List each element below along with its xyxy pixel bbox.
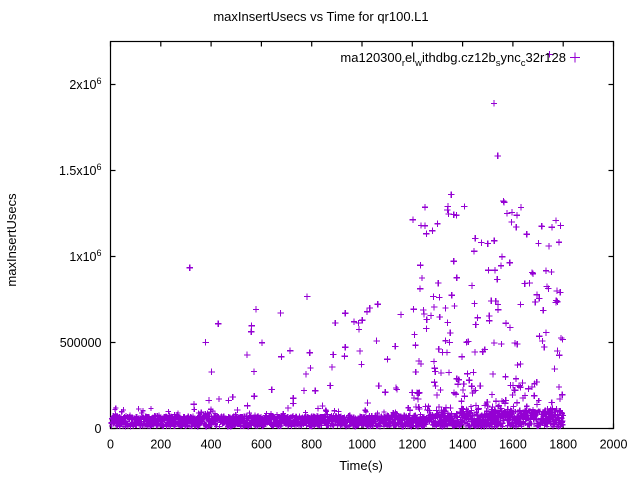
x-tick-label: 600 (251, 438, 272, 452)
legend: ma120300relwithdbg.cz12bsyncc32r128 (340, 50, 580, 69)
x-tick-label: 2000 (600, 438, 628, 452)
data-points-layer (108, 51, 565, 429)
y-tick-label: 500000 (60, 336, 102, 350)
x-tick-label: 1200 (398, 438, 426, 452)
y-tick-label: 1x106 (69, 248, 101, 264)
x-tick-label: 1600 (499, 438, 527, 452)
legend-series-label: ma120300relwithdbg.cz12bsyncc32r128 (340, 50, 566, 69)
x-tick-label: 400 (201, 438, 222, 452)
x-tick-label: 1400 (449, 438, 477, 452)
legend-marker-plus-icon (570, 53, 580, 63)
y-tick-label: 1.5x106 (59, 162, 102, 178)
y-axis-ticks: 05000001x1061.5x1062x106 (59, 76, 614, 436)
x-axis-title: Time(s) (339, 458, 383, 473)
chart-canvas: maxInsertUsecs vs Time for qr100.L1 maxI… (0, 0, 640, 480)
y-axis-title: maxInsertUsecs (4, 193, 19, 287)
y-tick-label: 0 (95, 422, 102, 436)
x-tick-label: 0 (107, 438, 114, 452)
chart-title: maxInsertUsecs vs Time for qr100.L1 (213, 9, 428, 24)
x-tick-label: 1800 (549, 438, 577, 452)
x-tick-label: 800 (301, 438, 322, 452)
scatter-plot-svg: maxInsertUsecs vs Time for qr100.L1 maxI… (0, 0, 640, 480)
y-tick-label: 2x106 (69, 76, 101, 92)
x-tick-label: 200 (150, 438, 171, 452)
x-tick-label: 1000 (348, 438, 376, 452)
plot-frame (111, 42, 614, 429)
